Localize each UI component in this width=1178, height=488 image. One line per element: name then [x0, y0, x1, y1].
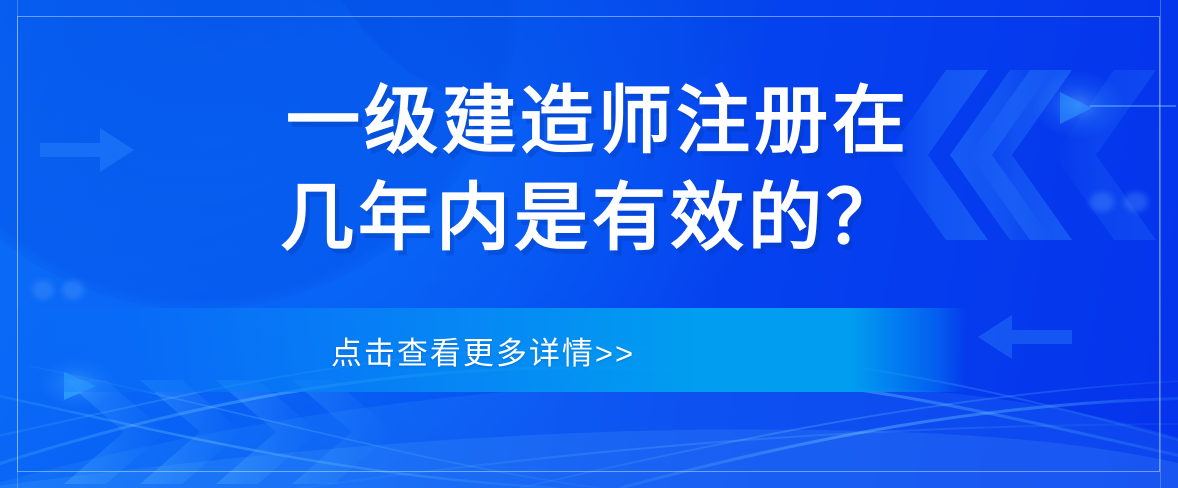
cta-link[interactable]: 点击查看更多详情>> [0, 308, 966, 392]
headline-line-2: 几年内是有效的？ [0, 169, 1178, 266]
headline: 一级建造师注册在 几年内是有效的？ [0, 72, 1178, 266]
headline-line-1: 一级建造师注册在 [0, 72, 1178, 169]
cta-label: 点击查看更多详情>> [331, 328, 635, 373]
promo-banner[interactable]: 点击查看更多详情>> 一级建造师注册在 几年内是有效的？ [0, 0, 1178, 488]
